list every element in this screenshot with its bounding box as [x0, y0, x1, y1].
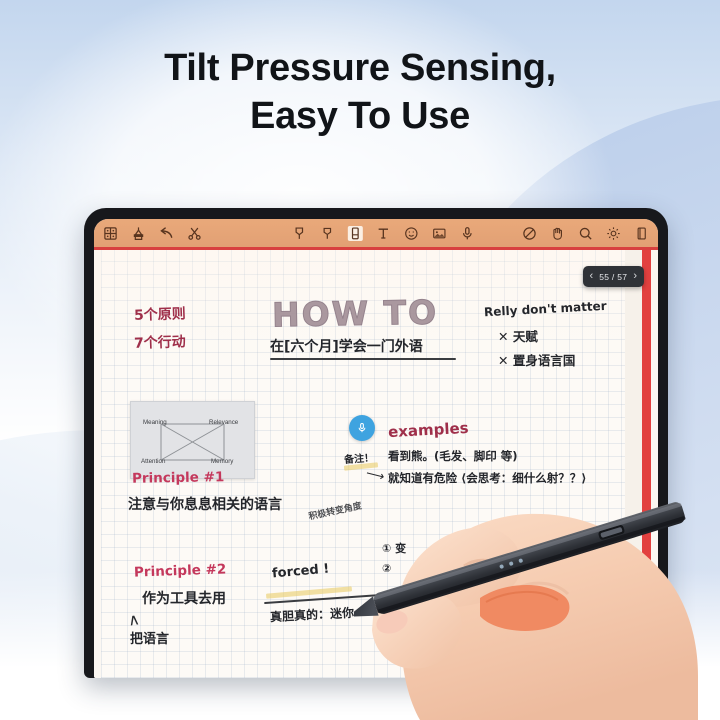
text-icon[interactable]	[376, 226, 391, 241]
pencil-icon[interactable]	[320, 226, 335, 241]
toolbar-right-group	[522, 226, 649, 241]
hand-icon[interactable]	[550, 226, 565, 241]
note-principle-2-sub: 把语言	[130, 628, 169, 647]
microphone-icon	[356, 422, 368, 434]
grid-view-icon[interactable]	[103, 226, 118, 241]
note-left-bullet-2: 7个行动	[134, 331, 186, 353]
toolbar-left-group	[103, 226, 202, 241]
eraser-icon[interactable]	[348, 226, 363, 241]
undo-icon[interactable]	[159, 226, 174, 241]
toolbar-center-group	[292, 226, 475, 241]
note-diagram-card: Meaning Relevance Attention Memory	[130, 401, 255, 479]
stylus-pen	[354, 494, 700, 634]
note-principle-1-label: Principle #1	[132, 469, 225, 487]
note-left-bullet-1: 5个原则	[134, 303, 186, 325]
page-title: Tilt Pressure Sensing, Easy To Use	[0, 44, 720, 140]
scissors-icon[interactable]	[187, 226, 202, 241]
page-counter: 55 / 57	[599, 272, 627, 282]
gear-icon[interactable]	[606, 226, 621, 241]
promo-banner: Tilt Pressure Sensing, Easy To Use	[0, 0, 720, 720]
note-subtitle-underline	[270, 358, 456, 360]
audio-record-button[interactable]	[349, 415, 375, 441]
diagram-label-attention: Attention	[141, 458, 165, 465]
image-icon[interactable]	[432, 226, 447, 241]
note-principle-2-label: Principle #2	[134, 561, 227, 580]
no-touch-icon[interactable]	[522, 226, 537, 241]
note-bubble-title: HOW TO	[272, 293, 439, 335]
diagram-label-relevance: Relevance	[209, 419, 238, 426]
note-right-item-1: ✕ 天赋	[498, 326, 538, 345]
sticker-icon[interactable]	[404, 226, 419, 241]
note-principle-1-text: 注意与你息息相关的语言	[128, 494, 282, 514]
note-mid-line-1: 看到熊。(毛发、脚印 等)	[388, 448, 518, 464]
page-prev-button[interactable]: ‹	[590, 271, 594, 282]
brush-icon[interactable]	[131, 226, 146, 241]
page-next-button[interactable]: ›	[633, 271, 637, 282]
headline-line-1: Tilt Pressure Sensing,	[164, 47, 556, 89]
app-toolbar[interactable]	[94, 219, 658, 247]
note-right-item-2: ✕ 置身语言国	[498, 350, 575, 369]
page-navigator[interactable]: ‹ 55 / 57 ›	[583, 266, 644, 287]
note-subtitle: 在[六个月]学会一门外语	[270, 336, 423, 356]
headline-line-2: Easy To Use	[0, 92, 720, 140]
note-mid-line-2: 就知道有危险 ⟨会思考：细什么射？？⟩	[388, 470, 587, 486]
pen-icon[interactable]	[292, 226, 307, 241]
diagram-label-memory: Memory	[211, 458, 233, 465]
diagram-connector-lines	[131, 402, 254, 478]
search-icon[interactable]	[578, 226, 593, 241]
copy-icon[interactable]	[634, 226, 649, 241]
note-principle-2-text: 作为工具去用	[142, 588, 226, 608]
diagram-label-meaning: Meaning	[143, 419, 167, 426]
microphone-icon[interactable]	[460, 226, 475, 241]
